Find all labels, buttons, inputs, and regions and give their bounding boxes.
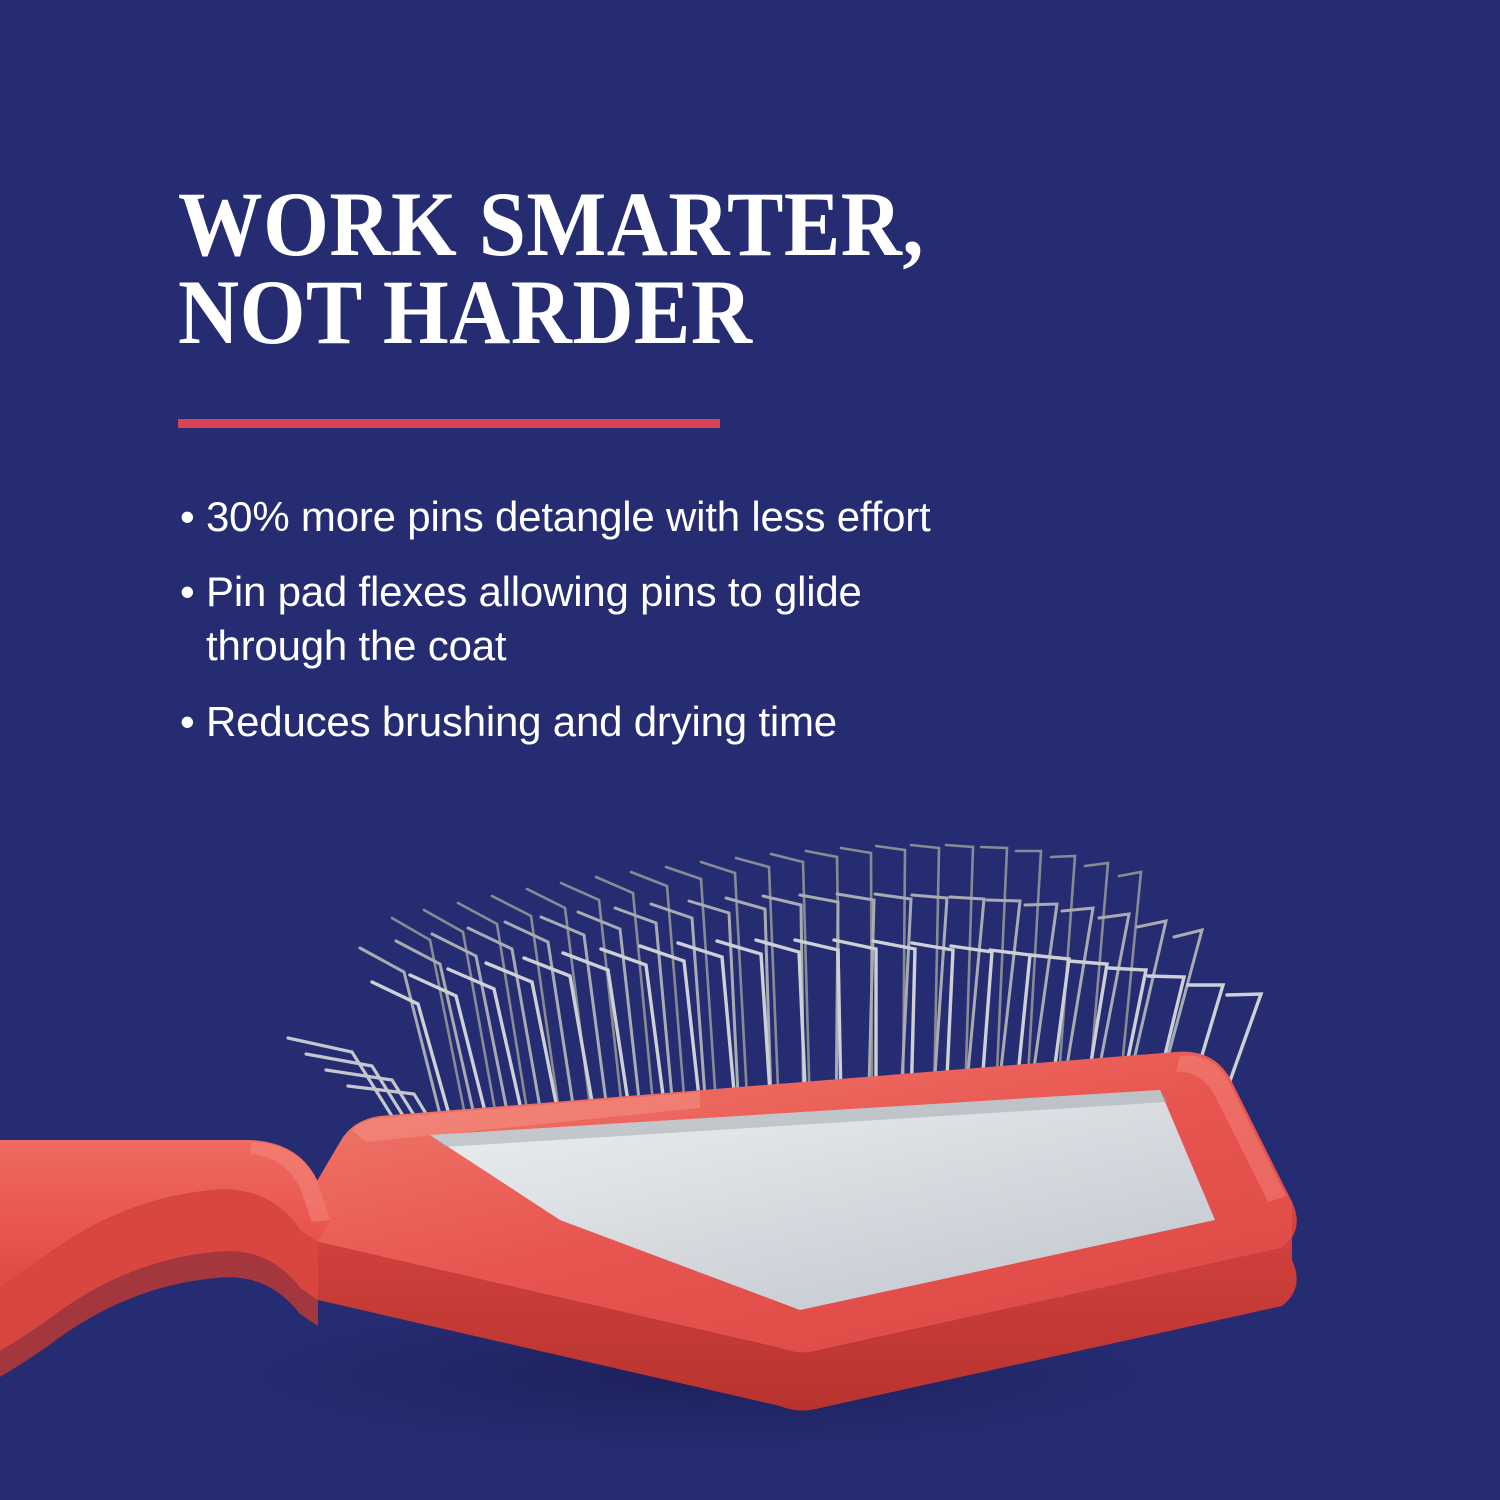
list-item-label: Pin pad flexes allowing pins to glide th… (206, 568, 862, 669)
feature-list: •30% more pins detangle with less effort… (178, 490, 1278, 749)
list-item-label: 30% more pins detangle with less effort (206, 493, 931, 540)
list-item: •Reduces brushing and drying time (178, 695, 996, 749)
list-item: •Pin pad flexes allowing pins to glide t… (178, 565, 996, 673)
promo-banner: WORK SMARTER, NOT HARDER •30% more pins … (0, 0, 1500, 1500)
red-rule-divider (178, 419, 720, 428)
list-item-label: Reduces brushing and drying time (206, 698, 837, 745)
product-image (0, 790, 1500, 1500)
copy-block: WORK SMARTER, NOT HARDER •30% more pins … (178, 180, 1278, 771)
slicker-brush-illustration (0, 790, 1500, 1500)
bullet-marker-icon: • (180, 565, 195, 619)
page-title: WORK SMARTER, NOT HARDER (178, 180, 1190, 357)
bullet-marker-icon: • (180, 695, 195, 749)
list-item: •30% more pins detangle with less effort (178, 490, 996, 544)
bullet-marker-icon: • (180, 490, 195, 544)
